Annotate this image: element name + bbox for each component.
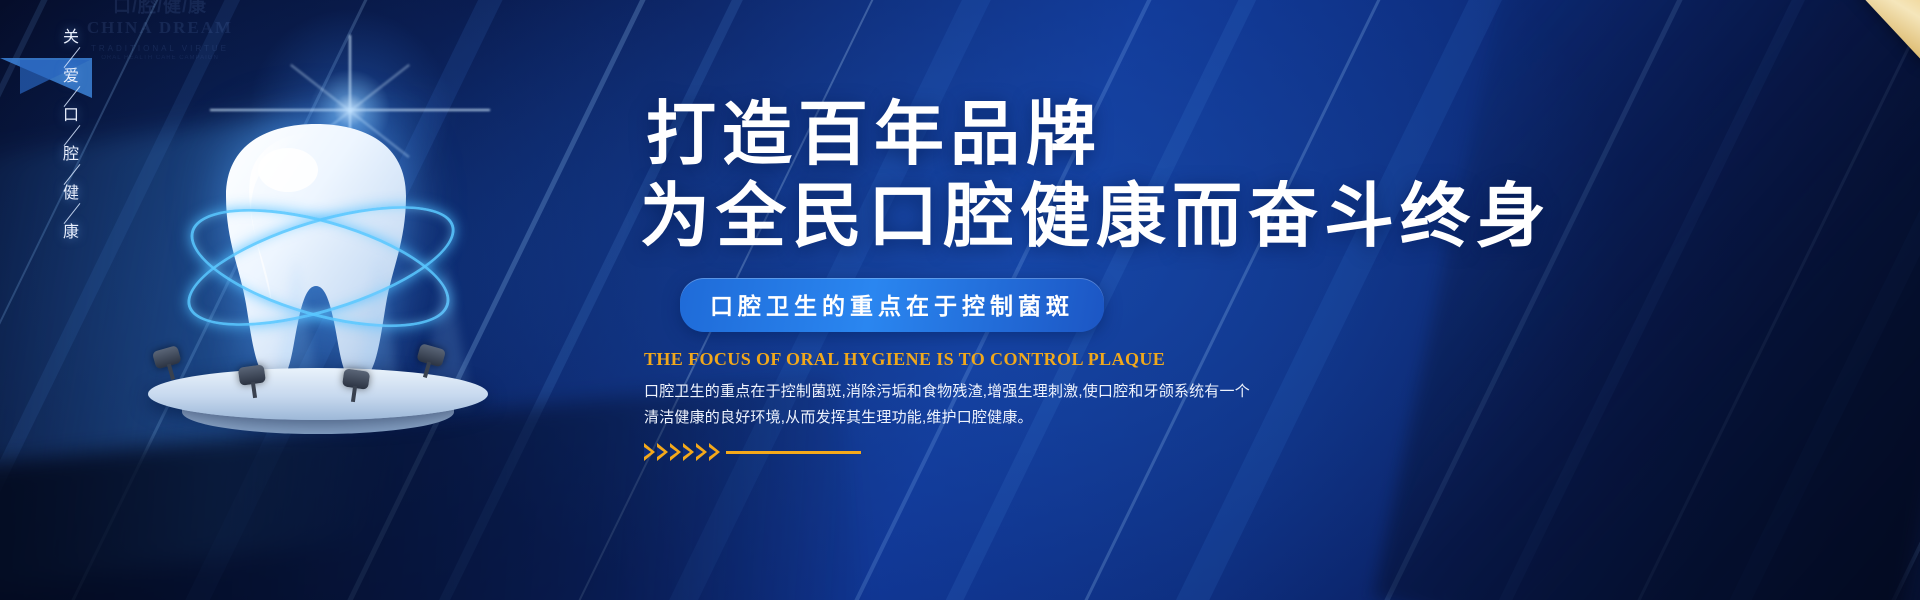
vertical-slogan-dash: [64, 203, 81, 224]
vertical-slogan-char: 爱: [63, 69, 81, 85]
subtitle-pill[interactable]: 口腔卫生的重点在于控制菌斑: [680, 278, 1104, 332]
vertical-slogan-char: 腔: [63, 147, 81, 163]
chevron-icon: [709, 443, 720, 461]
vertical-slogan-dash: [64, 164, 81, 185]
divider-line: [726, 451, 861, 454]
vertical-slogan-dash: [64, 86, 81, 107]
vertical-slogan-char: 关: [63, 30, 81, 46]
chevron-icon: [683, 443, 694, 461]
chevron-icon: [670, 443, 681, 461]
chevron-divider: [644, 443, 1760, 461]
vertical-slogan-dash: [64, 47, 81, 68]
spotlight-icon-3: [340, 368, 370, 405]
english-subtitle: THE FOCUS OF ORAL HYGIENE IS TO CONTROL …: [644, 349, 1760, 370]
vertical-slogan-char: 口: [63, 108, 81, 124]
tooth-illustration: [120, 70, 520, 450]
chevron-icon: [657, 443, 668, 461]
body-paragraph: 口腔卫生的重点在于控制菌斑,消除污垢和食物残渣,增强生理刺激,使口腔和牙颌系统有…: [644, 379, 1760, 432]
vertical-slogan: 关爱口腔健康: [52, 30, 92, 241]
corner-ribbon: 关爱口腔健康: [1681, 0, 1920, 65]
spotlight-icon-2: [238, 364, 268, 401]
vertical-slogan-char: 康: [63, 225, 81, 241]
headline-line-1: 打造百年品牌: [646, 95, 1760, 173]
chevron-icon: [644, 443, 655, 461]
body-paragraph-line-2: 清洁健康的良好环境,从而发挥其生理功能,维护口腔健康。: [644, 405, 1760, 431]
banner-root: 口/腔/健/康 CHINA DREAM TRADITIONAL VIRTUE O…: [0, 0, 1920, 600]
vertical-slogan-char: 健: [63, 186, 81, 202]
vertical-slogan-dash: [64, 125, 81, 146]
watermark-line1: 口/腔/健/康: [60, 0, 260, 18]
body-paragraph-line-1: 口腔卫生的重点在于控制菌斑,消除污垢和食物残渣,增强生理刺激,使口腔和牙颌系统有…: [644, 379, 1760, 405]
content-column: 打造百年品牌 为全民口腔健康而奋斗终身 口腔卫生的重点在于控制菌斑 THE FO…: [640, 95, 1760, 461]
headline-line-2: 为全民口腔健康而奋斗终身: [640, 177, 1760, 255]
chevron-icon: [696, 443, 707, 461]
